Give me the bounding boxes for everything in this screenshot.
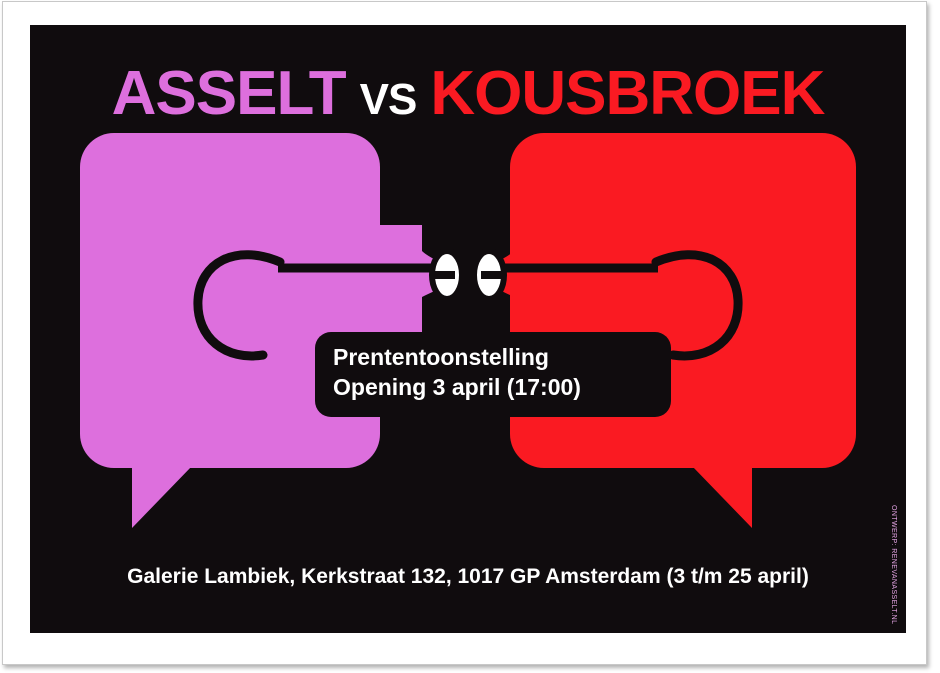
left-eye <box>432 251 462 299</box>
poster-artwork: ASSELTVSKOUSBROEK Prententoonstelling Op… <box>30 25 906 633</box>
event-info-box: Prententoonstelling Opening 3 april (17:… <box>315 332 671 417</box>
speech-bubble-right-tail <box>692 466 752 528</box>
headline-left-name: ASSELT <box>112 59 346 128</box>
event-type-label: Prententoonstelling <box>333 342 653 372</box>
poster-frame: ASSELTVSKOUSBROEK Prententoonstelling Op… <box>0 0 940 673</box>
venue-address: Galerie Lambiek, Kerkstraat 132, 1017 GP… <box>30 565 906 589</box>
speech-bubble-right <box>510 133 856 468</box>
speech-bubble-left-tail <box>132 466 192 528</box>
poster-headline: ASSELTVSKOUSBROEK <box>30 63 906 125</box>
event-opening-label: Opening 3 april (17:00) <box>333 372 653 402</box>
speech-bubble-right-body <box>510 133 856 468</box>
speech-bubble-left <box>80 133 380 468</box>
speech-bubble-left-body <box>80 133 380 468</box>
right-pupil <box>481 271 503 279</box>
left-pupil <box>433 271 455 279</box>
designer-credit: ONTWERP: RENEVANASSELT.NL <box>890 505 897 635</box>
headline-versus: VS <box>346 75 431 124</box>
right-eye <box>474 251 504 299</box>
headline-right-name: KOUSBROEK <box>430 59 824 128</box>
